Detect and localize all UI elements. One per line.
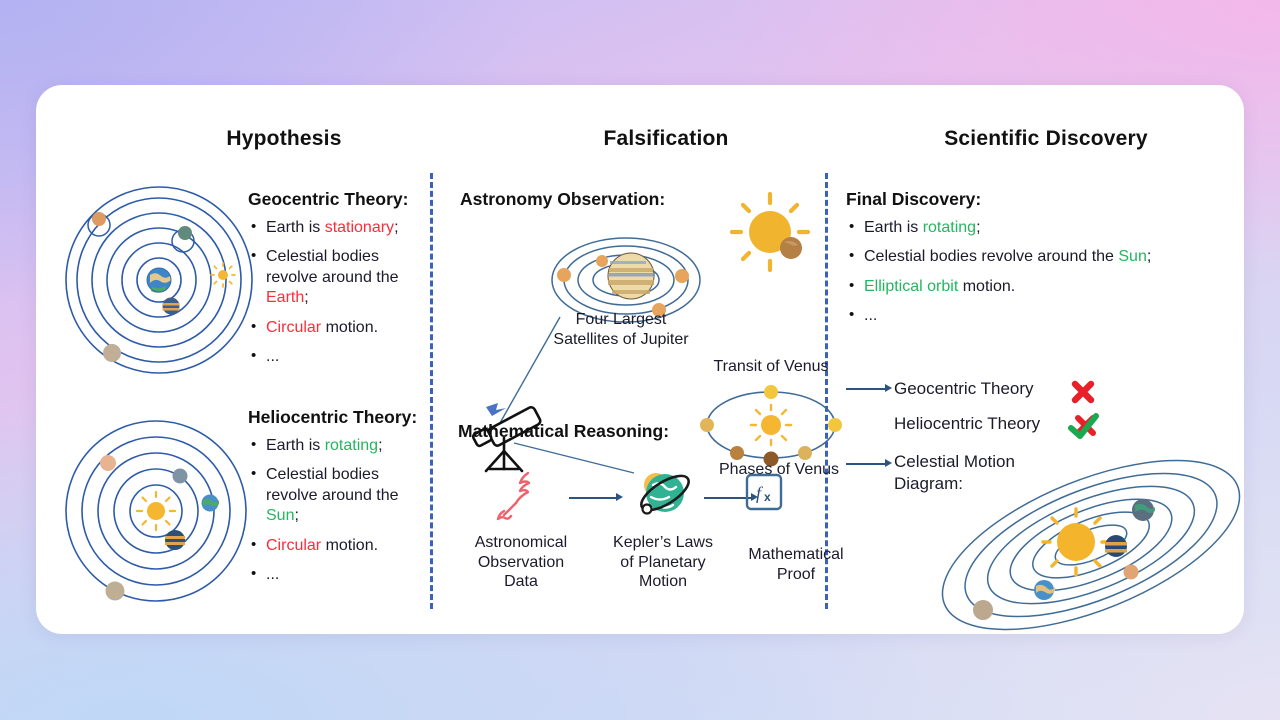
bullet-item: Celestial bodies revolve around the Sun; [848, 247, 1154, 267]
bullet-text: Celestial bodies revolve around the [266, 248, 399, 285]
caption-four-largest-satellites: Four LargestSatellites of Jupiter [506, 310, 736, 349]
column-title-hypothesis: Hypothesis [154, 127, 414, 151]
planet-jupiter-icon [1105, 535, 1127, 557]
planet-jupiter-icon [165, 530, 185, 550]
bullet-text: motion. [958, 278, 1015, 295]
venus-phase-gibbous [828, 418, 842, 432]
verdict-label-heliocentric: Heliocentric Theory [894, 414, 1040, 434]
verdict-label-geocentric: Geocentric Theory [894, 379, 1034, 399]
venus-phases-icon [701, 385, 841, 465]
bullet-text: ... [864, 307, 877, 324]
sun-venus-transit-icon [726, 190, 816, 275]
bullet-text: motion. [321, 319, 378, 336]
bullet-text: rotating [325, 437, 378, 454]
bullet-text: ; [378, 437, 382, 454]
main-card: Hypothesis Falsification Scientific Disc… [36, 85, 1244, 634]
bullet-text: ; [294, 507, 298, 524]
bullet-item: ... [250, 565, 422, 585]
verdict-arrow-line [846, 388, 886, 390]
final-discovery-heading: Final Discovery: [846, 189, 981, 210]
sun-icon [211, 263, 235, 287]
bullet-item: Elliptical orbit motion. [848, 277, 1154, 297]
column-divider-left [430, 173, 433, 609]
moon-europa [596, 255, 608, 267]
bullet-item: Celestial bodies revolve around the Sun; [250, 465, 422, 526]
quill-pen-icon [486, 467, 546, 527]
planet-venus-icon [178, 226, 192, 240]
geocentric-orbit-diagram [66, 183, 256, 378]
heliocentric-heading: Heliocentric Theory: [248, 407, 417, 428]
bullet-text: ; [394, 219, 398, 236]
red-cross-icon [1068, 377, 1098, 407]
astronomy-observation-heading: Astronomy Observation: [460, 189, 665, 210]
green-check-over-red-cross-icon [1068, 412, 1098, 442]
bullet-text: ... [266, 566, 279, 583]
planet-mars-icon [1124, 565, 1139, 580]
bullet-text: Earth is [266, 437, 325, 454]
final-discovery-bullet-list: Earth is rotating;Celestial bodies revol… [848, 218, 1154, 336]
geocentric-heading: Geocentric Theory: [248, 189, 408, 210]
planet-mars-icon [92, 212, 106, 226]
bullet-item: Celestial bodies revolve around the Eart… [250, 247, 422, 308]
bullet-text: Celestial bodies revolve around the [864, 248, 1118, 265]
bullet-text: Sun [266, 507, 294, 524]
venus-phase-crescent [700, 418, 714, 432]
bullet-text: rotating [923, 219, 976, 236]
elliptical-solar-system-diagram [926, 450, 1256, 630]
planet-neptune-icon [1132, 499, 1155, 521]
planet-mars-icon [100, 455, 116, 471]
venus-phase-quarter [798, 446, 812, 460]
sun-icon [137, 492, 175, 530]
geocentric-bullet-list: Earth is stationary;Celestial bodies rev… [250, 218, 422, 377]
bullet-text: Earth is [266, 219, 325, 236]
bullet-item: Circular motion. [250, 318, 422, 338]
moon-ganymede [675, 269, 689, 283]
step-arrow-1-line [569, 497, 617, 499]
venus-phase-full [764, 385, 778, 399]
bullet-item: Earth is rotating; [848, 218, 1154, 238]
step-label-mathematical-proof: MathematicalProof [726, 545, 866, 584]
planet-saturn-icon [103, 344, 121, 362]
planet-mercury-icon [173, 469, 188, 484]
bullet-text: Earth is [864, 219, 923, 236]
bullet-text: Earth [266, 289, 304, 306]
moon-io [557, 268, 571, 282]
svg-text:f: f [756, 483, 764, 503]
bullet-item: Circular motion. [250, 536, 422, 556]
bullet-item: ... [250, 347, 422, 367]
earth-icon [202, 495, 220, 512]
caption-transit-of-venus: Transit of Venus [696, 357, 846, 377]
bullet-text: Sun [1118, 248, 1146, 265]
bullet-text: motion. [321, 537, 378, 554]
verdict-arrow-head [885, 384, 892, 392]
bullet-text: Elliptical orbit [864, 278, 958, 295]
bullet-text: ; [304, 289, 308, 306]
venus-phase-half [730, 446, 744, 460]
column-title-discovery: Scientific Discovery [881, 127, 1211, 151]
bullet-text: Celestial bodies revolve around the [266, 466, 399, 503]
planet-earth-icon [1034, 580, 1055, 600]
step-label-keplers-laws: Kepler’s Lawsof PlanetaryMotion [588, 533, 738, 592]
bullet-text: ; [1147, 248, 1151, 265]
bullet-item: Earth is stationary; [250, 218, 422, 238]
step-arrow-1-head [616, 493, 623, 501]
bullet-text: Circular [266, 537, 321, 554]
bullet-text: ; [976, 219, 980, 236]
bullet-text: Circular [266, 319, 321, 336]
step-label-observation-data: AstronomicalObservationData [451, 533, 591, 592]
bullet-item: ... [848, 306, 1154, 326]
venus-disc [780, 237, 802, 259]
column-title-falsification: Falsification [536, 127, 796, 151]
planet-saturn-icon [106, 582, 125, 601]
mathematical-reasoning-heading: Mathematical Reasoning: [458, 421, 669, 442]
planet-jupiter-icon [163, 298, 180, 315]
planet-earth-orbit-icon [631, 463, 699, 527]
motion-arrow-head [885, 459, 892, 467]
bullet-text: stationary [325, 219, 394, 236]
motion-arrow-line [846, 463, 886, 465]
jupiter-planet [608, 253, 655, 299]
earth-icon [147, 268, 171, 293]
heliocentric-orbit-diagram [60, 415, 260, 615]
heliocentric-bullet-list: Earth is rotating;Celestial bodies revol… [250, 436, 422, 595]
formula-fx-icon: f x [741, 471, 787, 515]
telescope-flag [486, 403, 506, 416]
bullet-text: ... [266, 348, 279, 365]
planet-saturn-icon [973, 600, 993, 620]
svg-text:x: x [764, 490, 771, 504]
bullet-item: Earth is rotating; [250, 436, 422, 456]
